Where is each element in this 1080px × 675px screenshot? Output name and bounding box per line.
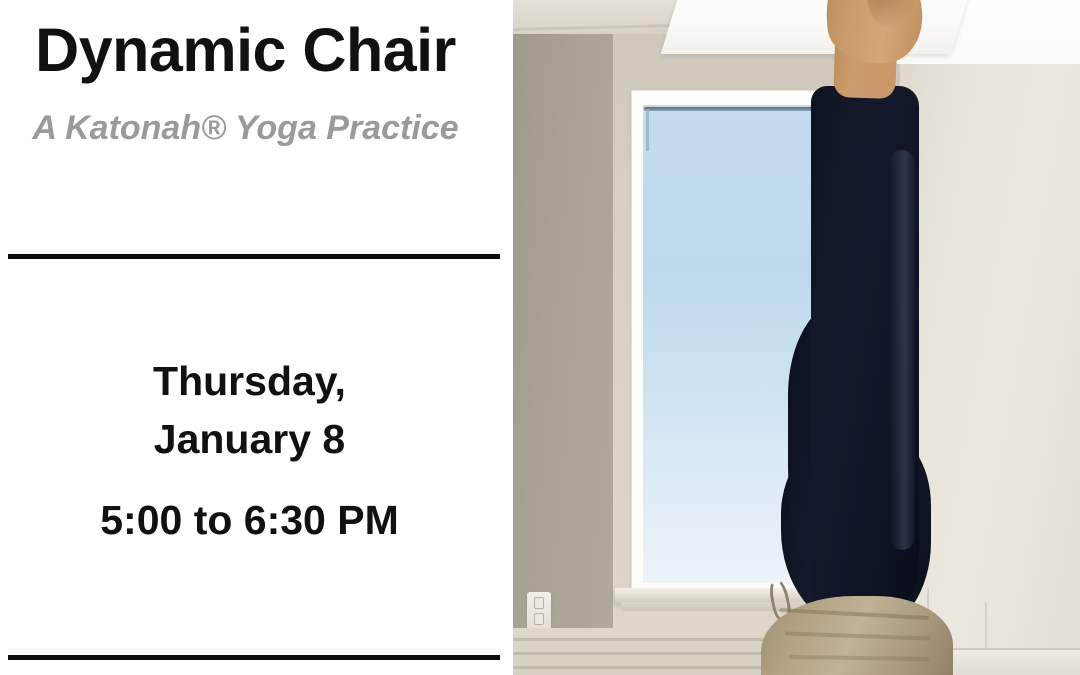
flyer-canvas: Dynamic Chair A Katonah® Yoga Practice T…	[0, 0, 1080, 675]
event-time: 5:00 to 6:30 PM	[0, 496, 499, 545]
shade-pull-cord	[646, 109, 649, 151]
datetime-block: Thursday, January 8 5:00 to 6:30 PM	[0, 352, 499, 546]
divider-bottom	[8, 655, 500, 660]
electrical-outlet	[527, 592, 551, 630]
ceiling-soffit-panel	[661, 0, 982, 54]
legging-highlight	[889, 150, 915, 550]
event-date-weekday: Thursday,	[0, 352, 499, 410]
outlet-socket-upper	[534, 597, 544, 609]
text-panel: Dynamic Chair A Katonah® Yoga Practice T…	[0, 0, 513, 675]
wall-seam-line-2	[985, 602, 987, 650]
shade-roller-bar	[644, 107, 830, 111]
event-date-day: January 8	[0, 410, 499, 468]
outlet-socket-lower	[534, 613, 544, 625]
wall-left	[513, 0, 618, 675]
page-subtitle: A Katonah® Yoga Practice	[0, 108, 491, 149]
divider-top	[8, 254, 500, 259]
page-title: Dynamic Chair	[0, 18, 491, 82]
yoga-photo	[513, 0, 1080, 675]
